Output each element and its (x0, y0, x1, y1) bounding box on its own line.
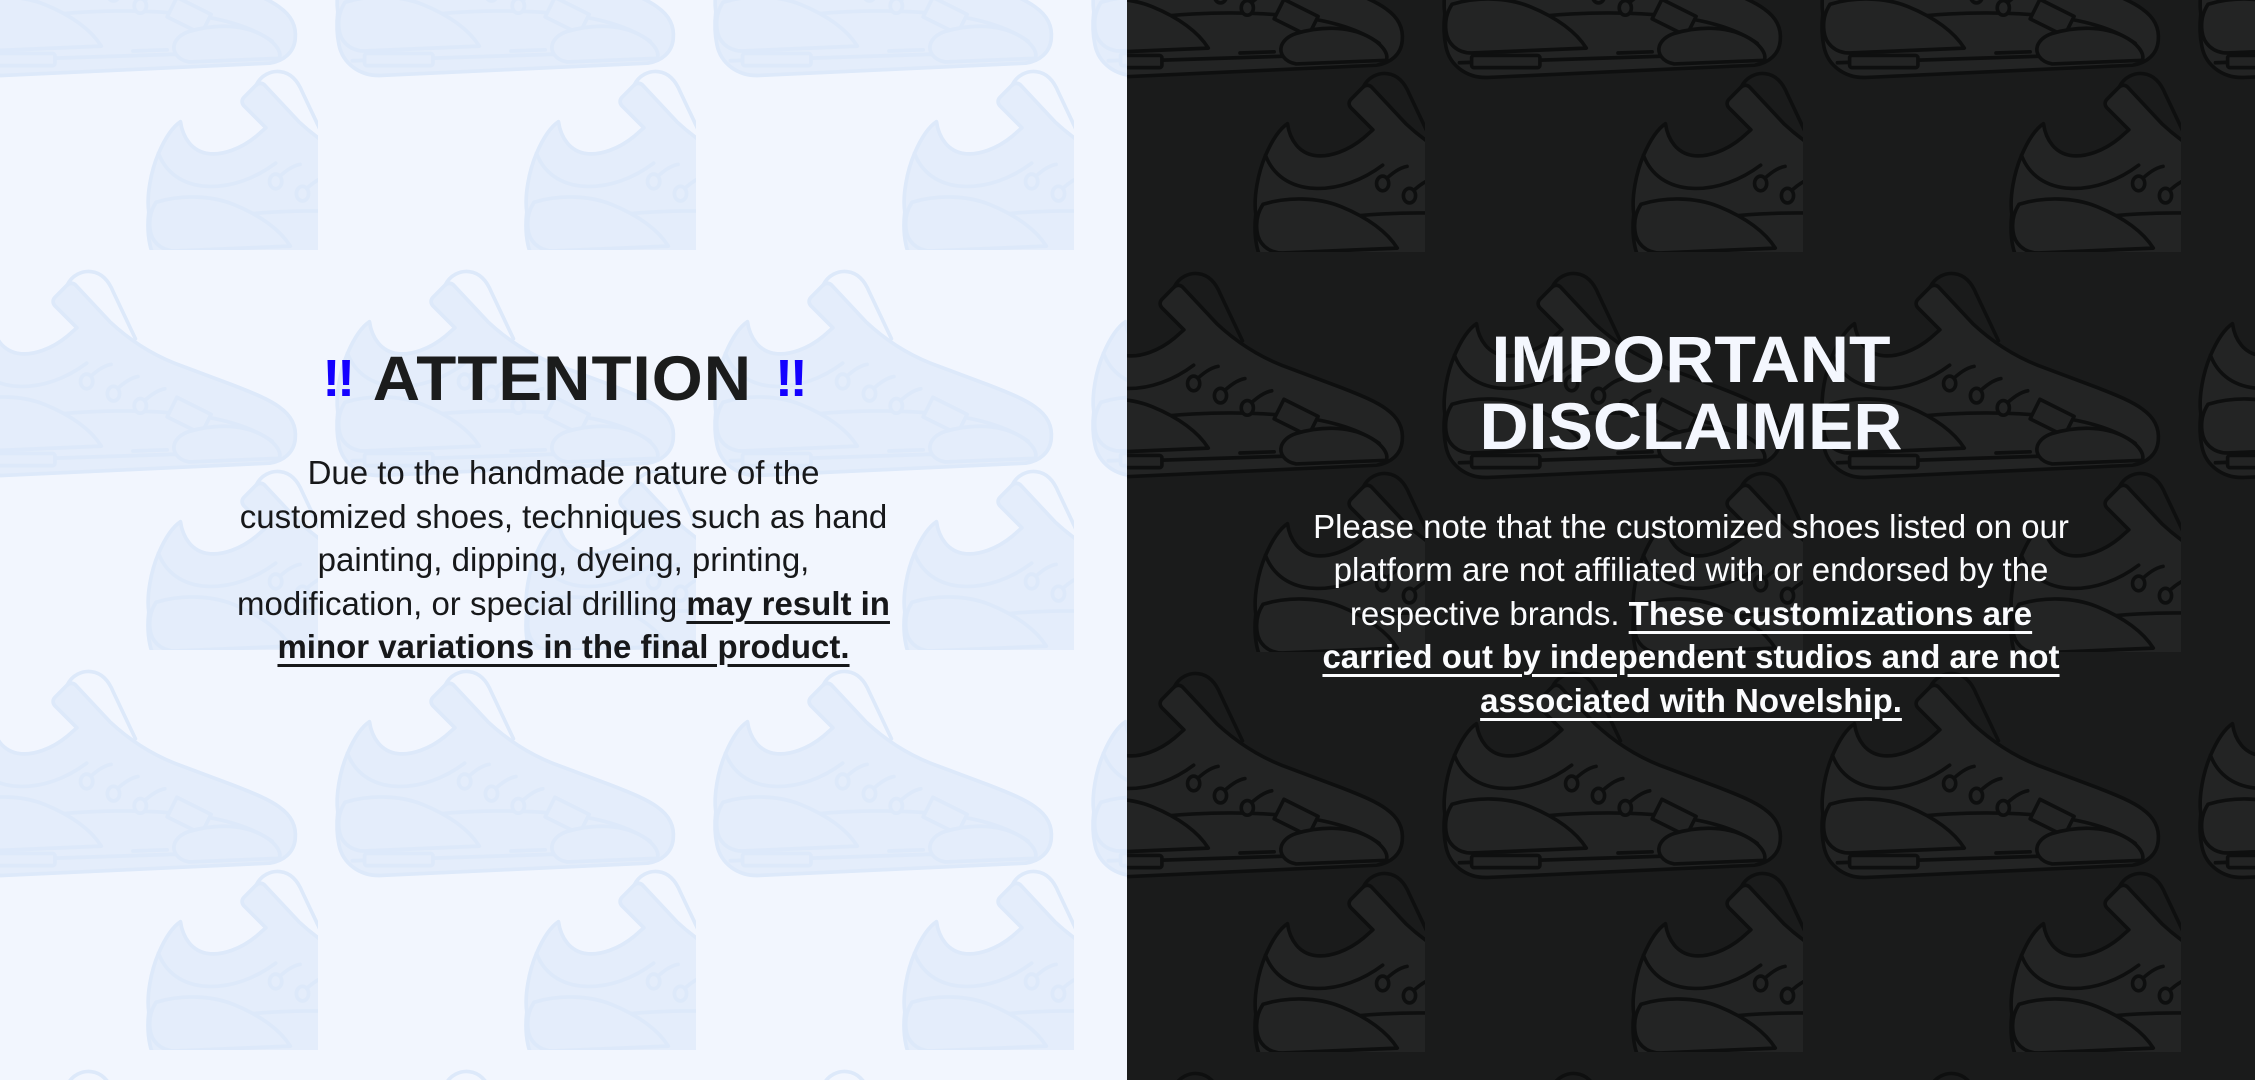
attention-body-text: Due to the handmade nature of the custom… (234, 451, 894, 669)
double-exclamation-left-icon: ‼ (322, 350, 352, 408)
disclaimer-banner: ‼ATTENTION‼ Due to the handmade nature o… (0, 0, 2255, 1080)
attention-headline: ‼ATTENTION‼ (0, 348, 1127, 411)
double-exclamation-right-icon: ‼ (775, 350, 805, 408)
disclaimer-body-text: Please note that the customized shoes li… (1291, 505, 2091, 723)
attention-content: ‼ATTENTION‼ Due to the handmade nature o… (0, 0, 1127, 669)
disclaimer-headline-line2: DISCLAIMER (1127, 393, 2255, 460)
attention-panel: ‼ATTENTION‼ Due to the handmade nature o… (0, 0, 1127, 1080)
disclaimer-content: IMPORTANT DISCLAIMER Please note that th… (1127, 0, 2255, 722)
attention-headline-text: ATTENTION (373, 344, 752, 414)
disclaimer-panel: IMPORTANT DISCLAIMER Please note that th… (1127, 0, 2255, 1080)
disclaimer-headline: IMPORTANT DISCLAIMER (1127, 326, 2255, 461)
disclaimer-headline-line1: IMPORTANT (1491, 322, 1890, 396)
